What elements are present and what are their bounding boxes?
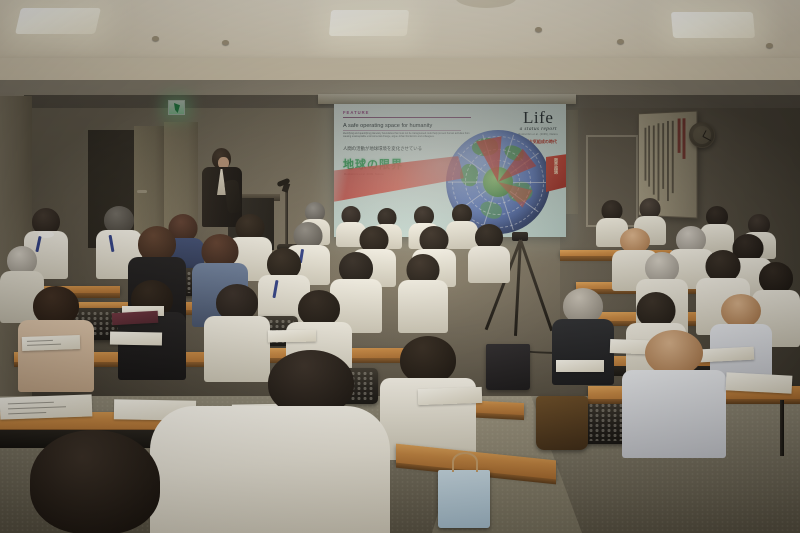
sprinkler-head [766, 43, 773, 48]
foreground-attendee [150, 352, 390, 533]
sprinkler-head [617, 39, 624, 44]
handout-paper [0, 394, 92, 419]
leather-bag [536, 396, 588, 450]
handout-paper [418, 387, 483, 405]
handout-paper [22, 335, 80, 351]
seminar-room-photo: FEATURE A safe operating space for human… [0, 0, 800, 533]
handout-paper [268, 330, 316, 343]
backpack [486, 344, 530, 390]
tote-bag-handle [452, 452, 478, 472]
handout-paper [726, 372, 793, 393]
handout-paper [110, 332, 162, 346]
tote-bag [438, 470, 490, 528]
handout-paper [556, 360, 604, 372]
foreground-attendee [0, 430, 170, 533]
audience-member [468, 224, 510, 282]
sprinkler-head [535, 27, 542, 32]
sprinkler-head [152, 36, 159, 41]
notebook [112, 311, 159, 325]
audience-member [398, 254, 448, 332]
sprinkler-head [222, 40, 229, 45]
audience-member [622, 330, 726, 456]
